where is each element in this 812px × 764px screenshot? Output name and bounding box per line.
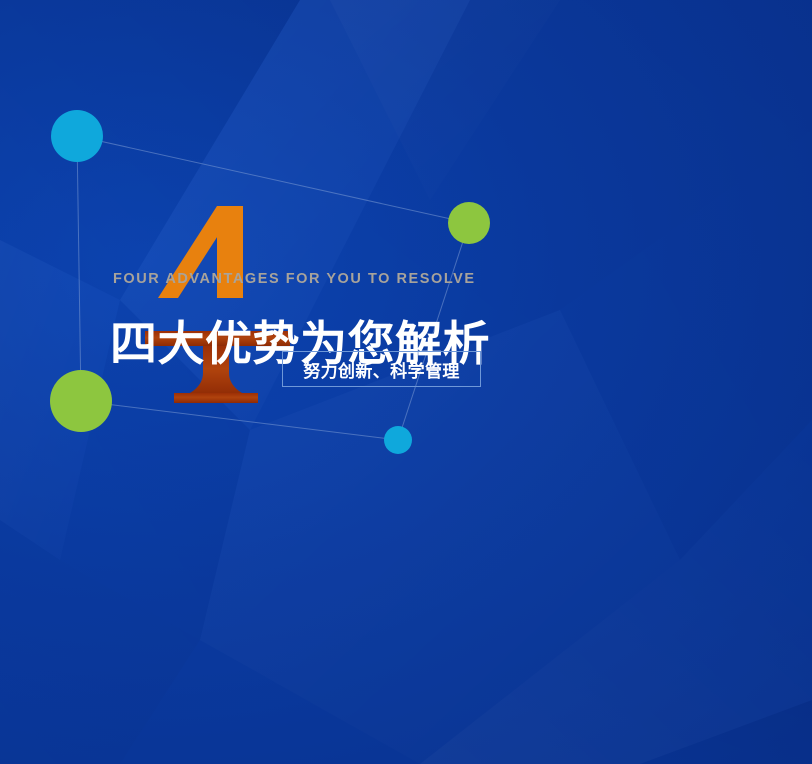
tagline-text: 努力创新、科学管理 <box>303 357 460 382</box>
banner-eyebrow-text: FOUR ADVANTAGES FOR YOU TO RESOLVE <box>113 272 476 287</box>
tagline-box: 努力创新、科学管理 <box>282 351 481 387</box>
banner-content: FOUR ADVANTAGES FOR YOU TO RESOLVE 四大优势为… <box>0 0 812 764</box>
promo-banner: FOUR ADVANTAGES FOR YOU TO RESOLVE 四大优势为… <box>0 0 812 764</box>
numeral-four-logo-icon <box>140 198 300 403</box>
